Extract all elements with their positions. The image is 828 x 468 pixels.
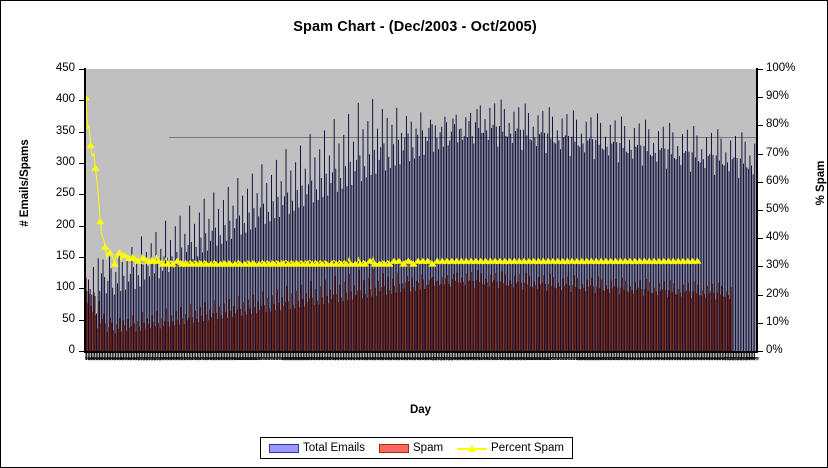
y-axis-left-tick-mark [79,100,84,101]
y-axis-left-tick-mark [79,351,84,352]
percent-spam-marker [101,244,109,250]
y-axis-right-tick-mark [758,323,763,324]
y-axis-right-tick-mark [758,125,763,126]
y-axis-left-tick-mark [79,194,84,195]
y-axis-left-tick-label: 150 [35,251,75,262]
y-axis-left-tick-label: 300 [35,157,75,168]
percent-spam-marker [91,165,99,171]
y-axis-right-tick-mark [758,69,763,70]
chart-legend: Total EmailsSpamPercent Spam [260,437,573,459]
y-axis-right-tick-label: 60% [766,176,812,187]
y-axis-left-tick-label: 400 [35,94,75,105]
y-axis-left-tick-label: 0 [35,345,75,356]
y-axis-right-tick-mark [758,182,763,183]
y-axis-right-tick-label: 20% [766,289,812,300]
y-axis-left-tick-mark [79,132,84,133]
y-axis-right-title: % Spam [815,123,827,243]
y-axis-right-tick-label: 0% [766,345,812,356]
legend-line-marker-icon [457,443,487,454]
y-axis-right-tick-mark [758,295,763,296]
y-axis-left-line [84,68,86,352]
percent-spam-marker [106,249,114,255]
y-axis-right-tick-label: 80% [766,119,812,130]
legend-entry[interactable]: Total Emails [269,442,365,454]
y-axis-right-tick-label: 10% [766,317,812,328]
legend-label: Percent Spam [491,442,564,454]
y-axis-left-tick-mark [79,257,84,258]
x-axis-title: Day [85,404,756,416]
plot-area [85,69,756,351]
y-axis-right-tick-mark [758,351,763,352]
y-axis-left-title: # Emails/Spams [19,123,31,243]
percent-spam-marker [86,142,94,148]
legend-swatch-icon [269,444,299,453]
y-axis-right-tick-label: 70% [766,148,812,159]
y-axis-right-tick-label: 30% [766,260,812,271]
y-axis-left-tick-label: 50 [35,314,75,325]
percent-spam-line [86,97,698,266]
y-axis-left-tick-label: 350 [35,126,75,137]
y-axis-right-tick-label: 90% [766,91,812,102]
y-axis-right-tick-mark [758,97,763,98]
legend-label: Spam [413,442,443,454]
legend-label: Total Emails [303,442,365,454]
percent-spam-marker [96,218,104,224]
y-axis-left-tick-mark [79,163,84,164]
y-axis-left-tick-label: 200 [35,220,75,231]
percent-spam-series-layer [85,69,756,351]
y-axis-left-tick-label: 250 [35,188,75,199]
y-axis-left-tick-mark [79,288,84,289]
spam-chart: Spam Chart - (Dec/2003 - Oct/2005) 05010… [0,0,828,468]
legend-triangle-icon [468,445,476,452]
legend-entry[interactable]: Percent Spam [457,442,564,454]
y-axis-left-tick-mark [79,320,84,321]
y-axis-left-tick-label: 100 [35,282,75,293]
x-axis-category-labels: 12/1/0312/3/0312/5/0312/7/0312/9/0312/11… [31,357,791,401]
y-axis-right-tick-mark [758,210,763,211]
percent-spam-marker [111,261,119,267]
y-axis-right-tick-mark [758,238,763,239]
percent-spam-marker [115,249,123,255]
y-axis-right-tick-label: 100% [766,63,812,74]
legend-swatch-icon [379,444,409,453]
y-axis-left-tick-mark [79,69,84,70]
y-axis-right-tick-label: 40% [766,232,812,243]
chart-title: Spam Chart - (Dec/2003 - Oct/2005) [1,19,828,35]
legend-entry[interactable]: Spam [379,442,443,454]
y-axis-right-tick-mark [758,154,763,155]
y-axis-right-tick-mark [758,266,763,267]
y-axis-left-tick-mark [79,226,84,227]
y-axis-left-tick-label: 450 [35,63,75,74]
y-axis-right-tick-label: 50% [766,204,812,215]
